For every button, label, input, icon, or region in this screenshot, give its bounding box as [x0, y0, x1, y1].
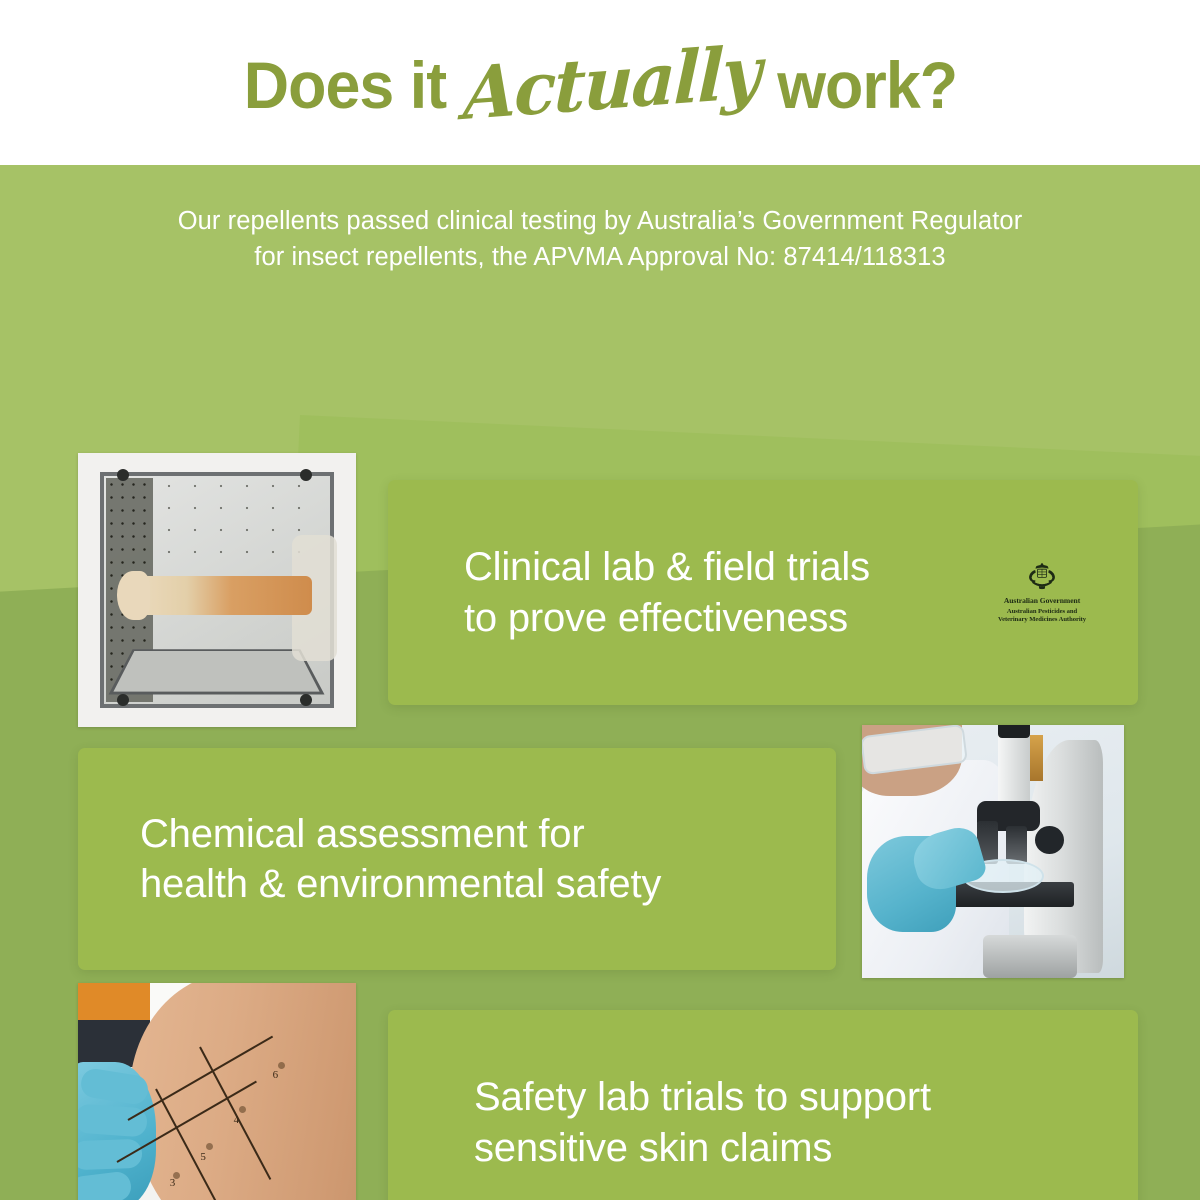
microscope-base	[983, 935, 1077, 978]
apvma-logo-line-3: Veterinary Medicines Authority	[990, 616, 1094, 625]
skin-test-site	[206, 1143, 213, 1150]
glove-finger	[78, 1171, 132, 1200]
test-subject-arm	[128, 576, 311, 614]
feature-card-line-2: to prove effectiveness	[464, 593, 870, 643]
feature-card-line-1: Safety lab trials to support	[474, 1072, 931, 1122]
skin-test-label: 5	[200, 1151, 206, 1163]
test-subject-hand	[117, 571, 150, 620]
microscope-eyepiece	[998, 725, 1029, 738]
green-background: Our repellents passed clinical testing b…	[0, 165, 1200, 1200]
skin-test-label: 3	[170, 1177, 176, 1189]
cage-bolt	[117, 694, 129, 706]
glove-finger	[78, 1104, 148, 1138]
apvma-logo-line-2: Australian Pesticides and	[990, 607, 1094, 616]
photo-skin-prick-test: 6 4 5 3	[78, 983, 356, 1200]
feature-card-line-1: Chemical assessment for	[140, 809, 661, 859]
feature-card-safety-trials: Safety lab trials to support sensitive s…	[388, 1010, 1138, 1200]
title-script-word: Actually	[458, 35, 764, 130]
apvma-logo: Australian Government Australian Pestici…	[990, 560, 1094, 624]
intro-line-1: Our repellents passed clinical testing b…	[60, 203, 1140, 239]
title-part-1: Does it	[243, 52, 445, 118]
page-title: Does it Actually work?	[243, 47, 956, 119]
intro-line-2: for insect repellents, the APVMA Approva…	[60, 239, 1140, 275]
skin-test-label: 4	[234, 1114, 240, 1126]
header-band: Does it Actually work?	[0, 0, 1200, 165]
feature-card-clinical-trials: Clinical lab & field trials to prove eff…	[388, 480, 1138, 705]
title-part-2: work?	[777, 52, 957, 118]
photo-mosquito-test-cage	[78, 453, 356, 727]
photo-scientist-microscope	[862, 725, 1124, 978]
apvma-logo-line-1: Australian Government	[990, 595, 1094, 605]
microscope-amber-trim	[1030, 735, 1043, 781]
feature-card-line-2: sensitive skin claims	[474, 1123, 931, 1173]
glove-finger	[78, 1139, 142, 1170]
microscope-focus-knob	[1035, 826, 1064, 854]
feature-card-line-1: Clinical lab & field trials	[464, 542, 870, 592]
feature-card-text: Clinical lab & field trials to prove eff…	[464, 542, 870, 643]
microscope-illustration	[862, 725, 1124, 978]
feature-card-chemical-assessment: Chemical assessment for health & environ…	[78, 748, 836, 970]
skin-test-illustration: 6 4 5 3	[78, 983, 356, 1200]
feature-card-text: Safety lab trials to support sensitive s…	[474, 1072, 931, 1173]
skin-test-site	[278, 1062, 285, 1069]
feature-card-text: Chemical assessment for health & environ…	[140, 809, 661, 910]
intro-text: Our repellents passed clinical testing b…	[60, 203, 1140, 275]
infographic-page: Our repellents passed clinical testing b…	[0, 0, 1200, 1200]
background-orange-shape	[78, 983, 150, 1020]
skin-test-label: 6	[273, 1069, 279, 1081]
feature-card-line-2: health & environmental safety	[140, 859, 661, 909]
cage-illustration	[78, 453, 356, 727]
australian-coat-of-arms-icon	[1022, 560, 1062, 590]
